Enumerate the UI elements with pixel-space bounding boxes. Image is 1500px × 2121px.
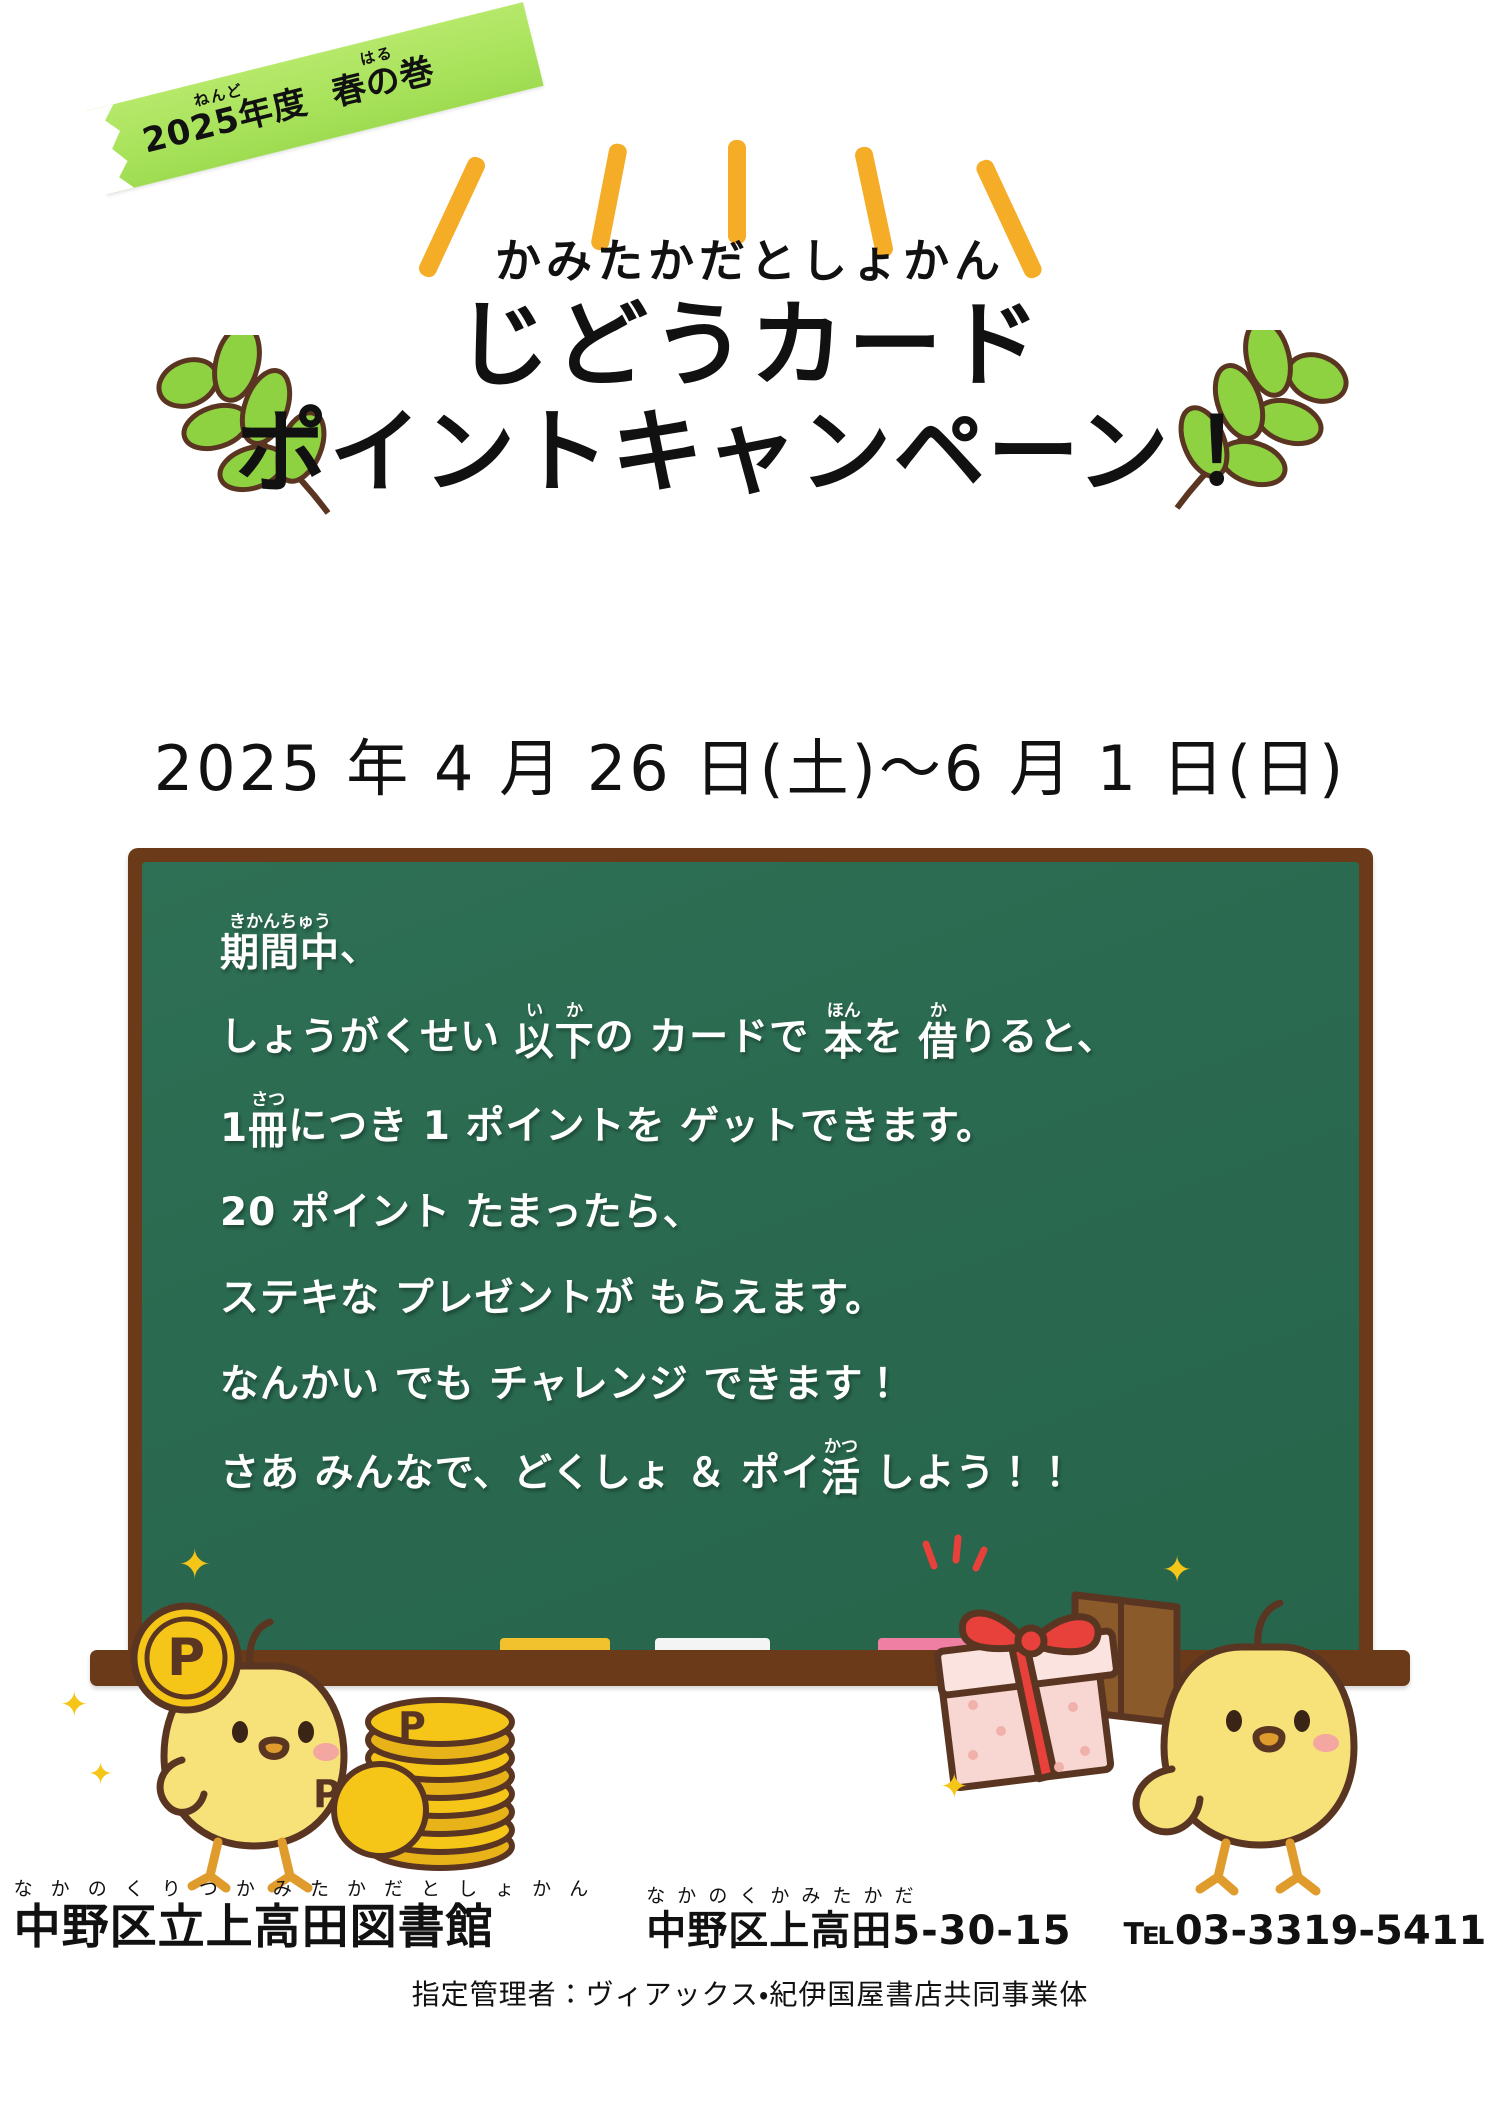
text-segment: ステキな プレゼントが もらえます。 <box>220 1267 885 1323</box>
coin-stack-label-top: P <box>398 1704 426 1748</box>
text-segment: を <box>864 1006 919 1062</box>
ribbon-banner: ねんど 2025年度 はる 春の巻 <box>78 0 570 224</box>
text-segment: につき 1 ポイントを ゲットできます。 <box>288 1095 996 1151</box>
ruby-group: かつ活 <box>821 1439 861 1498</box>
furigana: か <box>930 1003 947 1020</box>
furigana: か <box>566 1003 583 1020</box>
sparkle-star-4: ✦ <box>940 1770 969 1804</box>
kanji: 冊 <box>248 1112 288 1151</box>
title-line-2: ポイントキャンペーン！ <box>0 400 1500 507</box>
text-segment: の カードで <box>595 1006 824 1062</box>
blackboard-line: きかんちゅう期間中、 <box>220 914 1359 973</box>
ruby-group: か下 <box>555 1003 595 1062</box>
ruby-group: ほん本 <box>824 1003 864 1062</box>
kanji: 借 <box>918 1023 958 1062</box>
text-segment: しよう！！ <box>861 1442 1076 1498</box>
ruby-group: い以 <box>515 1003 555 1062</box>
text-segment: 20 ポイント たまったら、 <box>220 1181 703 1237</box>
footer-row: な か の く り つ か み た か だ と し ょ か ん 中野区立上高田図… <box>0 1880 1500 1951</box>
title-line-1: じどうカード <box>0 291 1500 400</box>
sparkle-star-2: ✦ <box>60 1688 89 1722</box>
coin-front <box>325 1755 435 1865</box>
text-segment: しょうがくせい <box>220 1006 515 1062</box>
page-title: かみたかだとしょかん じどうカード ポイントキャンペーン！ <box>0 225 1500 507</box>
furigana: さつ <box>251 1092 285 1109</box>
designated-manager: 指定管理者：ヴィアックス・紀伊国屋書店共同事業体 <box>0 1973 1500 2013</box>
point-badge-label: P <box>126 1598 246 1718</box>
library-name-furigana: な か の く り つ か み た か だ と し ょ か ん <box>14 1880 595 1899</box>
ruby-group: きかんちゅう期間中 <box>220 914 340 973</box>
ruby-group: さつ冊 <box>248 1092 288 1151</box>
point-badge-coin: P <box>126 1598 246 1718</box>
campaign-date: 2025 年 4 月 26 日(土)～6 月 1 日(日) <box>0 718 1500 808</box>
kanji: 活 <box>821 1459 861 1498</box>
blackboard-line: 20 ポイント たまったら、 <box>220 1181 1359 1237</box>
text-segment: 、 <box>340 917 380 973</box>
kanji: 以 <box>515 1023 555 1062</box>
library-phone-group: ℡03-3319-5411 <box>1124 1911 1487 1951</box>
kanji: 下 <box>555 1023 595 1062</box>
sparkle-star-1: ✦ <box>178 1545 212 1585</box>
title-furigana: かみたかだとしょかん <box>0 225 1500 291</box>
blackboard-line: ステキな プレゼントが もらえます。 <box>220 1267 1359 1323</box>
gift-sparkle-burst <box>918 1530 988 1580</box>
blackboard-line: 1さつ冊につき 1 ポイントを ゲットできます。 <box>220 1092 1359 1151</box>
text-segment: さあ みんなで、どくしょ ＆ ポイ <box>220 1442 821 1498</box>
furigana: かつ <box>824 1439 858 1456</box>
blackboard-surface: きかんちゅう期間中、 しょうがくせい い以か下の カードで ほん本を か借りると… <box>142 862 1359 1664</box>
footer: な か の く り つ か み た か だ と し ょ か ん 中野区立上高田図… <box>0 1880 1500 2013</box>
sparkle-star-5: ✦ <box>1162 1552 1192 1588</box>
kanji: 本 <box>824 1023 864 1062</box>
text-segment: りると、 <box>958 1006 1116 1062</box>
ruby-group: か借 <box>918 1003 958 1062</box>
sparkle-star-3: ✦ <box>88 1760 113 1790</box>
furigana: い <box>526 1003 543 1020</box>
chick-right <box>1130 1555 1460 1905</box>
kanji: 期間中 <box>220 934 340 973</box>
library-address-furigana: な か の く か み た か だ <box>646 1887 916 1906</box>
furigana: ほん <box>827 1003 861 1020</box>
library-phone: ℡03-3319-5411 <box>1124 1911 1487 1951</box>
blackboard-line: しょうがくせい い以か下の カードで ほん本を か借りると、 <box>220 1003 1359 1062</box>
text-segment: 1 <box>220 1106 248 1151</box>
library-address: 中野区上高田5-30-15 <box>646 1911 1071 1951</box>
furigana: きかんちゅう <box>229 914 331 931</box>
blackboard-line: なんかい でも チャレンジ できます！ <box>220 1353 1359 1409</box>
library-address-group: な か の く か み た か だ 中野区上高田5-30-15 <box>646 1887 1071 1951</box>
library-name-group: な か の く り つ か み た か だ と し ょ か ん 中野区立上高田図… <box>14 1880 595 1951</box>
library-name: 中野区立上高田図書館 <box>14 1904 494 1951</box>
blackboard-line: さあ みんなで、どくしょ ＆ ポイかつ活 しよう！！ <box>220 1439 1359 1498</box>
poster-root: ねんど 2025年度 はる 春の巻 <box>0 0 1500 2121</box>
text-segment: なんかい でも チャレンジ できます！ <box>220 1353 903 1409</box>
